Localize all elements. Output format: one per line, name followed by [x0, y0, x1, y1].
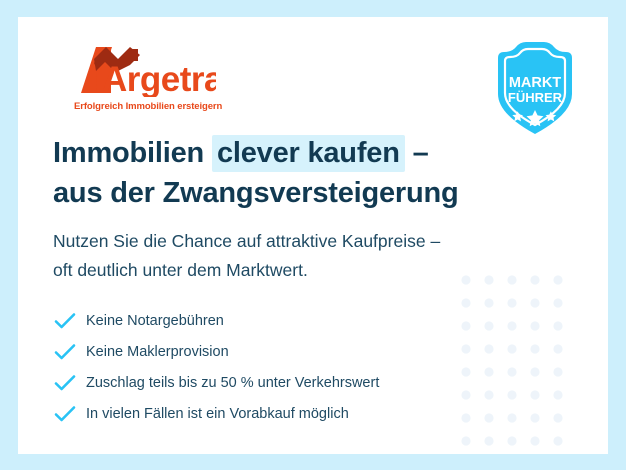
benefit-list: Keine Notargebühren Keine Maklerprovisio… — [53, 305, 523, 429]
list-item-label: Keine Notargebühren — [86, 311, 224, 331]
list-item-label: In vielen Fällen ist ein Vorabkauf mögli… — [86, 404, 349, 424]
headline-line2: aus der Zwangsversteigerung — [53, 175, 553, 212]
banner-card: Argetra Erfolgreich Immobilien ersteiger… — [18, 17, 608, 454]
subheadline-line2: oft deutlich unter dem Marktwert. — [53, 256, 553, 285]
page-title: Immobilien clever kaufen – aus der Zwang… — [53, 135, 553, 212]
market-leader-badge: MARKT FÜHRER — [492, 42, 578, 138]
subheadline: Nutzen Sie die Chance auf attraktive Kau… — [53, 227, 553, 285]
check-icon — [53, 342, 77, 362]
headline-part1: Immobilien — [53, 137, 212, 169]
svg-text:Argetra: Argetra — [102, 60, 216, 97]
list-item-label: Zuschlag teils bis zu 50 % unter Verkehr… — [86, 373, 379, 393]
check-icon — [53, 373, 77, 393]
logo-tagline: Erfolgreich Immobilien ersteigern — [74, 101, 222, 112]
list-item: Keine Maklerprovision — [53, 336, 523, 367]
list-item: In vielen Fällen ist ein Vorabkauf mögli… — [53, 398, 523, 429]
headline-part2: – — [405, 137, 429, 169]
list-item: Keine Notargebühren — [53, 305, 523, 336]
subheadline-line1: Nutzen Sie die Chance auf attraktive Kau… — [53, 227, 553, 256]
check-icon — [53, 311, 77, 331]
badge-line2: FÜHRER — [508, 90, 563, 105]
promo-banner: Argetra Erfolgreich Immobilien ersteiger… — [0, 0, 626, 470]
badge-line1: MARKT — [509, 75, 561, 91]
headline-highlight: clever kaufen — [212, 135, 405, 172]
list-item-label: Keine Maklerprovision — [86, 342, 229, 362]
check-icon — [53, 404, 77, 424]
list-item: Zuschlag teils bis zu 50 % unter Verkehr… — [53, 367, 523, 398]
argetra-roof-a-icon: Argetra — [56, 41, 216, 97]
argetra-logo[interactable]: Argetra Erfolgreich Immobilien ersteiger… — [56, 41, 216, 119]
